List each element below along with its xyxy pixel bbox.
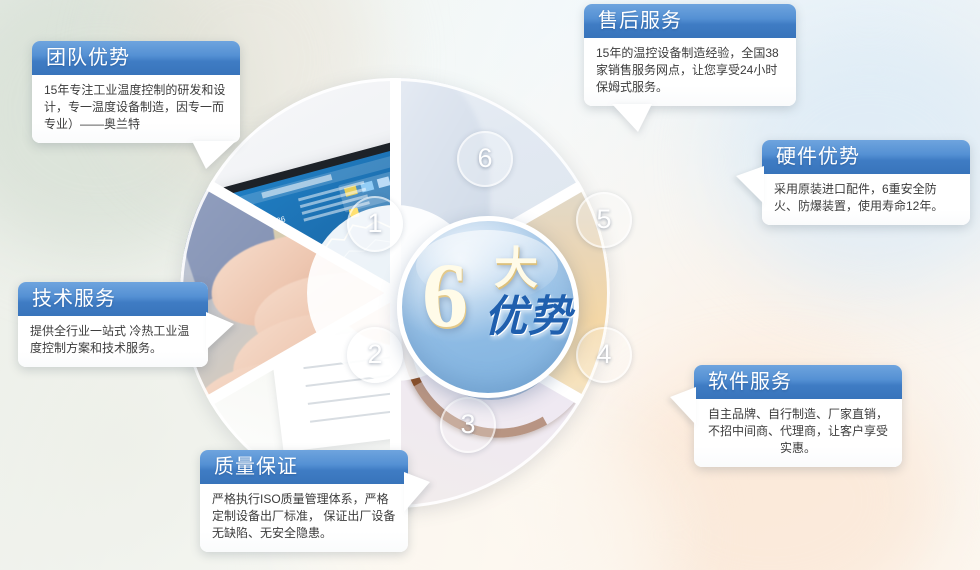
callout-tail: [192, 141, 236, 169]
card-body: 严格执行ISO质量管理体系，严格定制设备出厂标准， 保证出厂设备无缺陷、无安全隐…: [200, 484, 408, 552]
callout-tail: [670, 387, 696, 425]
card-after-sales-service[interactable]: 售后服务 15年的温控设备制造经验，全国38家销售服务网点，让您享受24小时保姆…: [584, 4, 796, 106]
card-title: 售后服务: [584, 4, 796, 38]
segment-number-4[interactable]: 4: [576, 327, 632, 383]
segment-number-3[interactable]: 3: [440, 397, 496, 453]
segment-number-6[interactable]: 6: [457, 131, 513, 187]
hub-number: 6: [422, 249, 468, 341]
card-hardware-advantage[interactable]: 硬件优势 采用原装进口配件，6重安全防火、防爆装置，使用寿命12年。: [762, 140, 970, 225]
card-title: 硬件优势: [762, 140, 970, 174]
callout-tail: [736, 166, 764, 204]
hub-big-char: 大: [494, 247, 538, 291]
callout-tail: [206, 312, 234, 350]
card-quality-guarantee[interactable]: 质量保证 严格执行ISO质量管理体系，严格定制设备出厂标准， 保证出厂设备无缺陷…: [200, 450, 408, 552]
segment-number-1[interactable]: 1: [347, 196, 403, 252]
card-team-advantage[interactable]: 团队优势 15年专注工业温度控制的研发和设计，专一温度设备制造，因专一而专业）—…: [32, 41, 240, 143]
card-body: 采用原装进口配件，6重安全防火、防爆装置，使用寿命12年。: [762, 174, 970, 225]
center-hub[interactable]: 6 大 优势: [397, 216, 579, 398]
callout-tail: [404, 472, 430, 512]
segment-number-2[interactable]: 2: [347, 327, 403, 383]
card-title: 团队优势: [32, 41, 240, 75]
card-body: 15年专注工业温度控制的研发和设计，专一温度设备制造，因专一而专业）——奥兰特: [32, 75, 240, 143]
card-body: 提供全行业一站式 冷热工业温度控制方案和技术服务。: [18, 316, 208, 367]
callout-tail: [612, 104, 652, 132]
card-technical-service[interactable]: 技术服务 提供全行业一站式 冷热工业温度控制方案和技术服务。: [18, 282, 208, 367]
card-body: 自主品牌、自行制造、厂家直销，不招中间商、代理商，让客户享受实惠。: [694, 399, 902, 467]
hub-subtitle: 优势: [484, 295, 572, 341]
infographic-canvas: INTC 440.86: [0, 0, 980, 570]
card-software-service[interactable]: 软件服务 自主品牌、自行制造、厂家直销，不招中间商、代理商，让客户享受实惠。: [694, 365, 902, 467]
card-title: 软件服务: [694, 365, 902, 399]
segment-number-5[interactable]: 5: [576, 192, 632, 248]
card-title: 质量保证: [200, 450, 408, 484]
card-body: 15年的温控设备制造经验，全国38家销售服务网点，让您享受24小时保姆式服务。: [584, 38, 796, 106]
card-title: 技术服务: [18, 282, 208, 316]
